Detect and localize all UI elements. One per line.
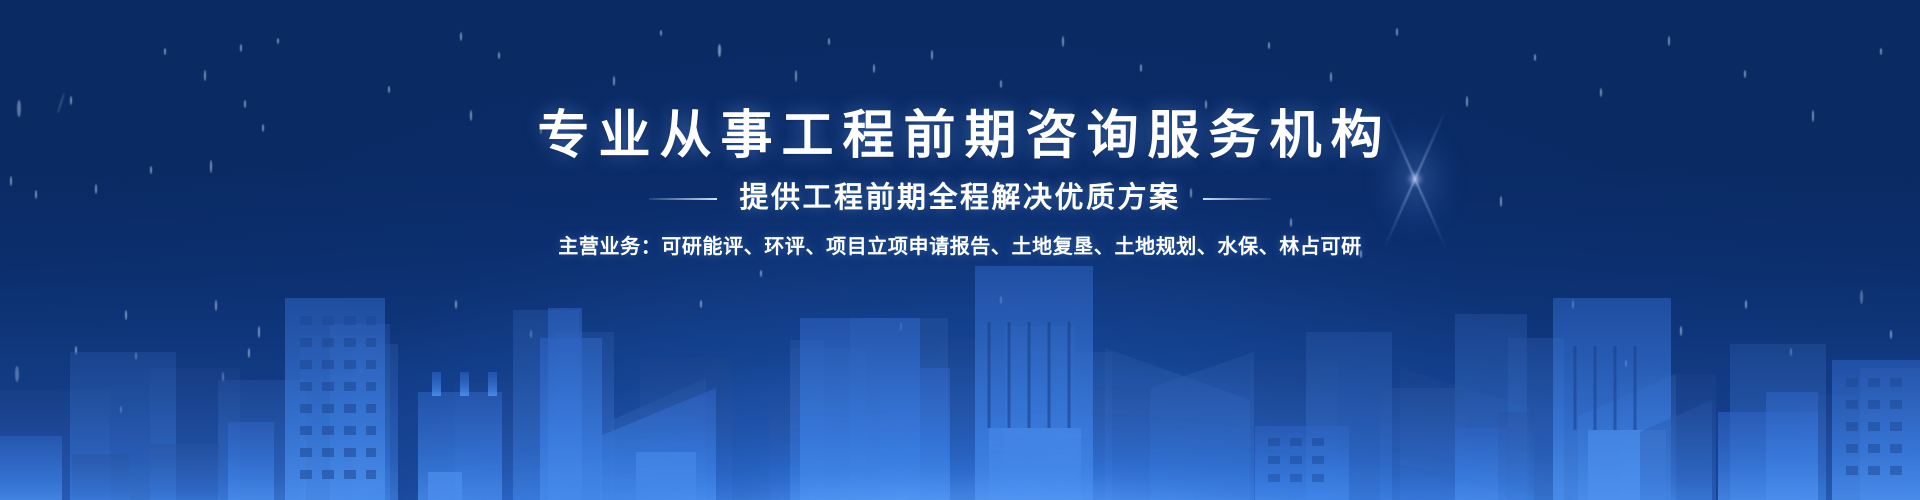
star-particle (1680, 326, 1682, 336)
star-particle (1290, 218, 1292, 227)
lens-flare-icon (1378, 142, 1452, 216)
star-particle (258, 326, 260, 338)
star-particle (222, 372, 224, 382)
star-particle (760, 270, 762, 277)
star-particle (1890, 330, 1892, 339)
star-particle (613, 76, 615, 86)
star-particle (360, 368, 362, 374)
flare-core (1407, 171, 1423, 187)
star-particle (1466, 96, 1468, 107)
star-particle (1500, 196, 1502, 207)
star-particle (277, 38, 279, 44)
star-particle (1330, 72, 1332, 82)
star-particle (1000, 80, 1002, 88)
window-grid (300, 316, 376, 479)
star-particle (1062, 36, 1064, 47)
star-particle (1745, 300, 1747, 309)
star-particle (700, 300, 702, 308)
star-particle (1744, 70, 1746, 78)
star-particle (70, 96, 72, 105)
starfield (0, 0, 1920, 500)
star-particle (1625, 360, 1627, 367)
star-particle (530, 330, 532, 338)
star-particle (1190, 188, 1192, 198)
star-particle (240, 44, 242, 52)
star-particle (1534, 54, 1536, 61)
star-particle (660, 30, 662, 36)
flare-ray (1384, 110, 1447, 248)
star-particle (15, 366, 19, 382)
star-particle (1140, 64, 1142, 72)
star-particle (1268, 42, 1270, 49)
star-particle (1572, 300, 1574, 309)
banner-business-line: 主营业务：可研能评、环评、项目立项申请报告、土地复垦、土地规划、水保、林占可研 (558, 237, 1361, 257)
star-particle (718, 44, 721, 57)
star-particle (455, 300, 457, 309)
star-particle (757, 116, 759, 125)
star-particle (210, 160, 212, 173)
star-particle (164, 48, 166, 55)
star-particle (498, 52, 500, 59)
city-layer-front (0, 266, 1920, 500)
star-particle (135, 352, 137, 360)
star-particle (1860, 290, 1863, 304)
star-particle (470, 110, 472, 121)
star-particle (35, 190, 37, 199)
tower-fins (989, 322, 1069, 428)
star-particle (1880, 48, 1882, 55)
star-particle (10, 176, 12, 186)
star-particle (1205, 100, 1207, 109)
star-particle (244, 100, 246, 108)
star-particle (931, 50, 933, 60)
star-particle (150, 166, 152, 174)
star-particle (1396, 28, 1398, 36)
star-particle (120, 406, 122, 413)
star-particle (57, 92, 66, 114)
star-particle (540, 126, 542, 134)
star-particle (1812, 110, 1814, 122)
star-particle (1790, 348, 1792, 356)
cityscape-silhouette (0, 240, 1920, 500)
dash-right-decoration (1203, 198, 1271, 200)
star-particle (215, 300, 217, 311)
banner-headline: 专业从事工程前期咨询服务机构 (528, 110, 1391, 162)
dash-left-decoration (649, 198, 717, 200)
flare-ray (1384, 110, 1447, 248)
star-particle (795, 70, 797, 82)
star-particle (900, 322, 902, 331)
star-particle (828, 38, 830, 45)
star-particle (248, 348, 250, 358)
city-layer-mid (70, 310, 1920, 500)
star-particle (460, 32, 462, 41)
star-particle (204, 70, 206, 81)
banner-subtitle-row: 提供工程前期全程解决优质方案 (649, 184, 1270, 213)
star-particle (17, 100, 21, 117)
star-particle (125, 310, 127, 320)
star-particle (262, 124, 264, 132)
horizon-glow-inner (210, 378, 1710, 500)
promo-banner: 专业从事工程前期咨询服务机构 提供工程前期全程解决优质方案 主营业务：可研能评、… (0, 0, 1920, 500)
banner-subtitle: 提供工程前期全程解决优质方案 (739, 184, 1180, 213)
star-particle (1360, 250, 1362, 258)
star-particle (388, 86, 390, 93)
star-particle (1600, 88, 1602, 97)
horizon-glow-outer (80, 416, 1840, 500)
star-particle (95, 184, 97, 194)
city-layer-back (0, 336, 1920, 500)
flare-halo (1370, 119, 1460, 239)
banner-content: 专业从事工程前期咨询服务机构 提供工程前期全程解决优质方案 主营业务：可研能评、… (0, 0, 1920, 500)
star-particle (75, 346, 77, 355)
star-particle (873, 64, 875, 73)
star-particle (1000, 296, 1002, 304)
star-particle (1668, 36, 1670, 46)
